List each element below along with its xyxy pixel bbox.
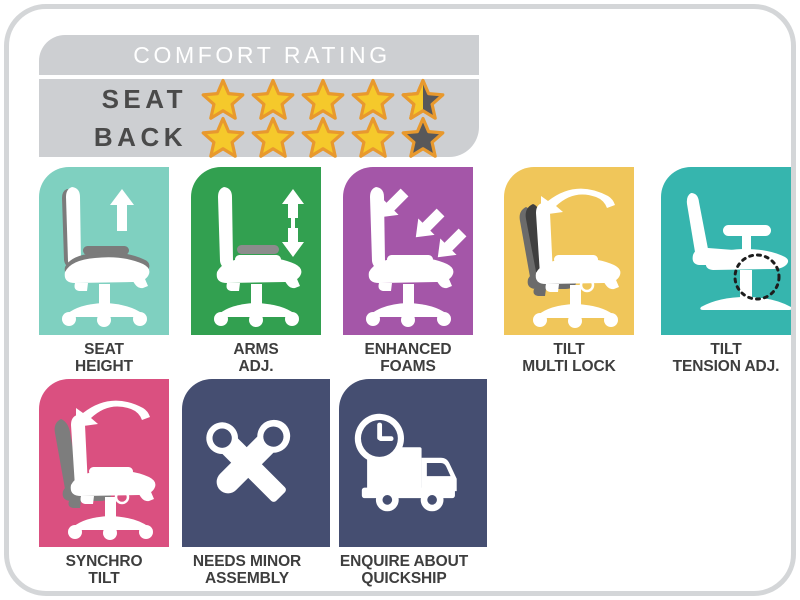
- star-group-seat: [201, 78, 445, 120]
- feature-tile-label: TILT MULTI LOCK: [495, 341, 643, 376]
- feature-tile-tilt-multi-lock[interactable]: TILT MULTI LOCK: [504, 167, 652, 376]
- banner-title: COMFORT RATING: [39, 35, 479, 75]
- feature-tile-seat-height[interactable]: SEAT HEIGHT: [39, 167, 169, 376]
- star-full-icon: [351, 78, 395, 120]
- office-chair-tension-dial-icon: [661, 167, 791, 335]
- feature-tile-label: ENHANCED FOAMS: [343, 341, 473, 376]
- star-full-icon: [351, 116, 395, 158]
- star-full-icon: [201, 78, 245, 120]
- office-chair-up-arrow-icon: [39, 167, 169, 335]
- feature-tile-needs-minor-assembly[interactable]: NEEDS MINOR ASSEMBLY: [182, 379, 330, 588]
- feature-tile-synchro-tilt[interactable]: SYNCHRO TILT: [39, 379, 169, 588]
- office-chair-inward-arrows-icon: [343, 167, 473, 335]
- star-full-icon: [251, 78, 295, 120]
- office-chair-tilt-lock-icon: [504, 167, 634, 335]
- star-full-icon: [301, 116, 345, 158]
- feature-tile-arms-adj[interactable]: ARMS ADJ.: [191, 167, 321, 376]
- rating-row-seat: SEAT: [39, 81, 479, 117]
- feature-tile-label: SEAT HEIGHT: [39, 341, 169, 376]
- star-full-icon: [301, 78, 345, 120]
- star-empty-icon: [401, 116, 445, 158]
- wrench-screwdriver-icon: [182, 379, 330, 547]
- feature-tile-label: ARMS ADJ.: [191, 341, 321, 376]
- office-chair-updown-arrow-icon: [191, 167, 321, 335]
- feature-tile-label: TILT TENSION ADJ.: [652, 341, 800, 376]
- feature-tile-enhanced-foams[interactable]: ENHANCED FOAMS: [343, 167, 473, 376]
- star-full-icon: [201, 116, 245, 158]
- star-full-icon: [251, 116, 295, 158]
- feature-tile-label: SYNCHRO TILT: [39, 553, 169, 588]
- rating-label-back: BACK: [39, 122, 201, 153]
- banner-body: SEAT BACK: [39, 79, 479, 157]
- rating-row-back: BACK: [39, 119, 479, 155]
- feature-tile-enquire-about-quickship[interactable]: ENQUIRE ABOUT QUICKSHIP: [339, 379, 487, 588]
- comfort-rating-banner: COMFORT RATING SEAT BACK: [39, 35, 479, 157]
- feature-tile-tilt-tension-adj[interactable]: TILT TENSION ADJ.: [661, 167, 800, 376]
- office-chair-synchro-tilt-icon: [39, 379, 169, 547]
- feature-tile-label: ENQUIRE ABOUT QUICKSHIP: [330, 553, 478, 588]
- star-half-icon: [401, 78, 445, 120]
- feature-tile-label: NEEDS MINOR ASSEMBLY: [173, 553, 321, 588]
- star-group-back: [201, 116, 445, 158]
- rating-label-seat: SEAT: [39, 84, 201, 115]
- poster-frame: COMFORT RATING SEAT BACK: [4, 4, 796, 596]
- clock-truck-icon: [339, 379, 487, 547]
